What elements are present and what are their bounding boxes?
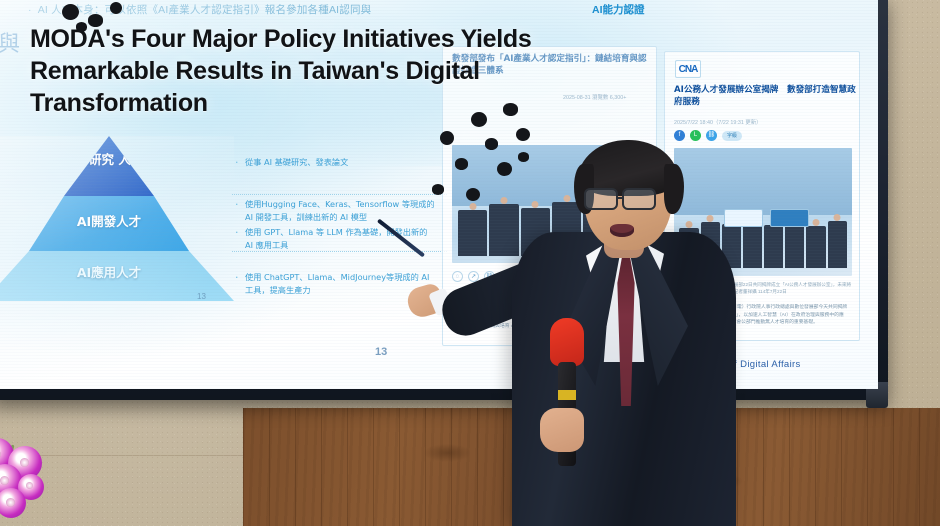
screenshot-stage: ·AI 人才本身：可以依照《AI產業人才認定指引》報名參加各種AI認同與 AI能… [0,0,940,526]
eyeglasses-lens-left [584,188,618,210]
news-card-right-meta: 2025/7/22 18:40（7/22 19:31 更新） [674,118,762,126]
pyramid-divider-1 [232,194,447,195]
slide-top-note-bullet: · [28,4,32,16]
slide-top-note-text: AI 人才本身：可以依照《AI產業人才認定指引》報名參加各種AI認同與 [38,4,372,16]
microphone-band [558,390,576,400]
news-card-right-title: AI公務人才發展辦公室揭牌 數發部打造智慧政府服務 [674,84,856,109]
orchid-arrangement [0,430,104,526]
pyramid-tier-research: AI研究 人才 [0,136,234,196]
speaker-mouth [610,224,634,237]
ai-talent-pyramid: AI研究 人才 AI開發人才 AI應用人才 [0,136,234,301]
pyramid-tier-development-label: AI開發人才 [0,214,234,230]
slide-page-number: 13 [375,346,387,358]
pyramid-tier-research-label: AI研究 人才 [0,152,234,168]
speaker-person [468,140,768,526]
cna-logo-icon: CNA [675,60,701,78]
pyramid-tier-application-label: AI應用人才 [0,265,234,281]
bullet-item: 從事 AI 基礎研究、發表論文 [232,156,348,169]
font-size-pill[interactable]: 字級 [722,131,742,141]
comment-icon[interactable]: ◌ [452,271,463,282]
slide-page-number-small: 13 [197,292,206,301]
photo-sign-right [770,209,809,227]
pyramid-tier-development: AI開發人才 [0,196,234,251]
slide-top-note-highlight: AI能力認證 [592,2,645,17]
eyeglasses-bridge [617,197,624,199]
bullet-item: 使用 ChatGPT、Llama、MidJourney等現成的 AI 工具，提高… [232,271,437,296]
eyeglasses-lens-right [622,188,656,210]
microphone-head [550,318,584,366]
speaker-right-hand [540,408,584,452]
headline-overlay: MODA's Four Major Policy Initiatives Yie… [30,24,560,119]
bullet-item: 使用Hugging Face、Keras、Tensorflow 等現成的 AI … [232,198,437,223]
speaker-hair-side-right [664,164,684,214]
news-card-middle-meta: 2025-08-31 瀏覽數 6,300+ [563,93,626,101]
slide-ghost-character: 與 [0,26,20,58]
